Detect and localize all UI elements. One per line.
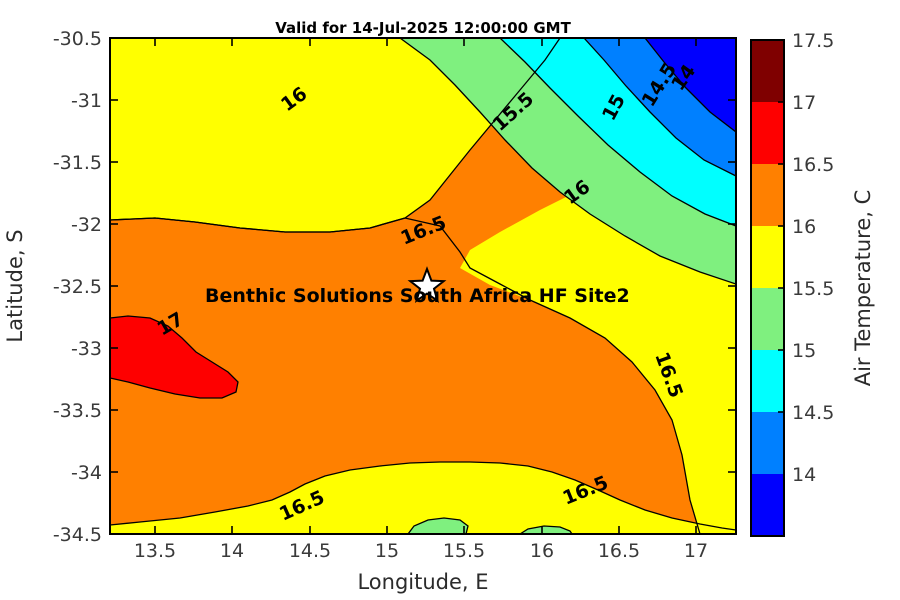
y-tick-label: -31.5 [53, 152, 102, 174]
colorbar-title: Air Temperature, C [851, 190, 875, 387]
colorbar-tick-label: 17.5 [792, 30, 834, 52]
site-label: Benthic Solutions South Africa HF Site2 [205, 285, 630, 307]
y-tick-label: -32.5 [53, 276, 102, 298]
colorbar-swatch-14.5 [751, 412, 784, 474]
page-title: Valid for 14-Jul-2025 12:00:00 GMT [275, 19, 571, 37]
x-tick-label: 15 [375, 540, 399, 562]
y-tick-label: -32 [71, 214, 102, 236]
colorbar-swatch-16.5 [751, 164, 784, 226]
colorbar-swatch-16 [751, 226, 784, 288]
x-tick-label: 16 [530, 540, 554, 562]
colorbar-tick-label: 16.5 [792, 154, 834, 176]
x-tick-label: 14 [220, 540, 244, 562]
x-tick-label: 13.5 [134, 540, 176, 562]
colorbar-tick-label: 17 [792, 92, 816, 114]
y-tick-label: -31 [71, 90, 102, 112]
x-tick-label: 15.5 [443, 540, 485, 562]
colorbar-tick-label: 14 [792, 464, 816, 486]
colorbar-swatch-14 [751, 474, 784, 536]
colorbar-swatch-15 [751, 350, 784, 412]
contour-axes: 16 15.5 15 14.5 14 16 16.5 17 16.5 16.5 … [3, 28, 736, 594]
colorbar-tick-label: 16 [792, 216, 816, 238]
y-tick-label: -30.5 [53, 28, 102, 50]
y-tick-label: -33 [71, 338, 102, 360]
contour-plot-figure: Valid for 14-Jul-2025 12:00:00 GMT [0, 0, 900, 600]
colorbar-swatch-17.5 [751, 40, 784, 102]
y-axis-title: Latitude, S [3, 229, 27, 342]
x-axis-title: Longitude, E [357, 570, 488, 594]
colorbar-swatch-15.5 [751, 288, 784, 350]
y-tick-label: -34 [71, 462, 102, 484]
x-tick-label: 14.5 [289, 540, 331, 562]
y-tick-label: -34.5 [53, 524, 102, 546]
x-tick-label: 16.5 [598, 540, 640, 562]
x-tick-label: 17 [684, 540, 708, 562]
colorbar-tick-label: 15.5 [792, 278, 834, 300]
colorbar-tick-label: 14.5 [792, 402, 834, 424]
colorbar-tick-label: 15 [792, 340, 816, 362]
colorbar-swatch-17 [751, 102, 784, 164]
y-tick-label: -33.5 [53, 400, 102, 422]
